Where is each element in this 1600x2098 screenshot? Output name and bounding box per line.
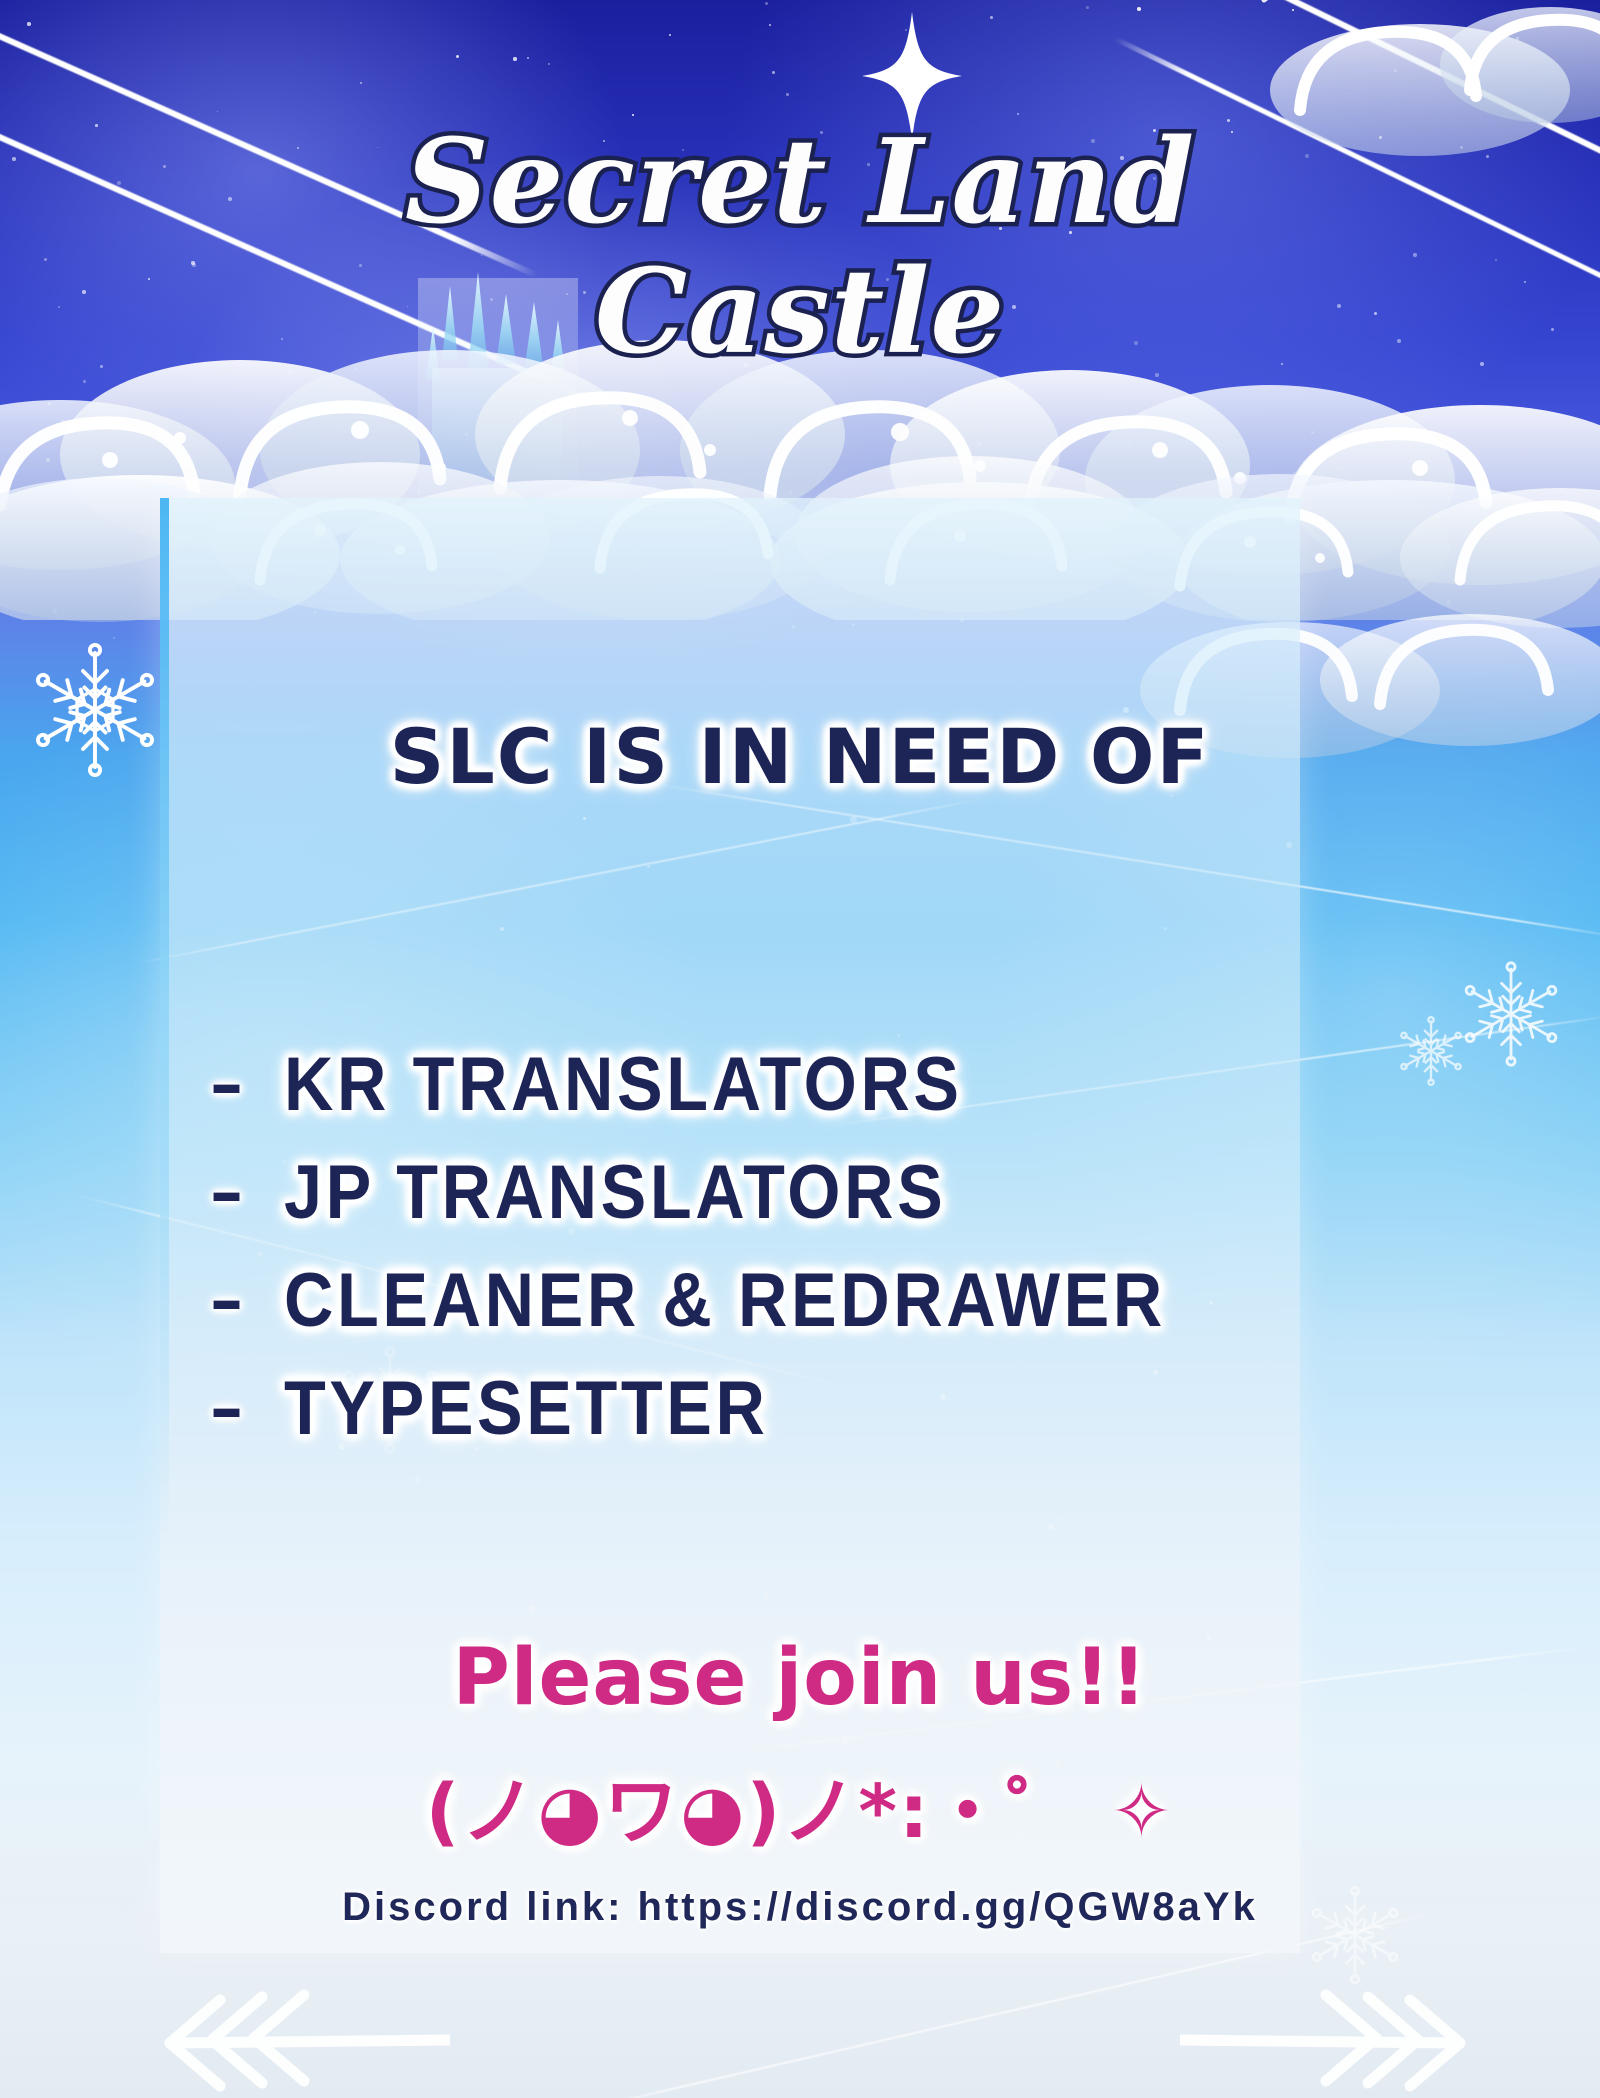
star — [968, 405, 969, 406]
list-item: – TYPESETTER — [210, 1354, 1310, 1462]
roles-list: – KR TRANSLATORS – JP TRANSLATORS – CLEA… — [210, 1030, 1310, 1462]
bullet-dash: – — [210, 1370, 284, 1447]
star — [132, 509, 136, 513]
star — [1056, 466, 1060, 470]
snowflake-icon — [1452, 955, 1570, 1073]
star — [1447, 600, 1451, 604]
star — [217, 111, 218, 112]
star — [789, 491, 792, 494]
star — [61, 420, 65, 424]
list-item: – KR TRANSLATORS — [210, 1030, 1310, 1138]
join-call-to-action: Please join us!! — [0, 1633, 1600, 1723]
star — [609, 429, 611, 431]
star — [465, 433, 468, 436]
role-label: TYPESETTER — [284, 1365, 768, 1452]
star — [181, 454, 185, 458]
role-label: CLEANER & REDRAWER — [284, 1257, 1166, 1344]
star — [48, 402, 51, 405]
star — [941, 410, 943, 412]
star — [685, 431, 687, 433]
title-line-1: Secret Land — [405, 114, 1195, 250]
arrow-icon — [1180, 1988, 1480, 2098]
star — [772, 71, 775, 74]
star — [46, 458, 50, 462]
star — [1302, 563, 1305, 566]
star — [164, 462, 166, 464]
star — [1504, 101, 1506, 103]
star — [114, 534, 117, 537]
star — [83, 380, 86, 383]
star — [786, 93, 789, 96]
snowflake-icon — [1392, 1012, 1470, 1090]
arrow-icon — [150, 1988, 450, 2098]
star — [456, 55, 459, 58]
star — [1026, 463, 1030, 467]
star — [990, 16, 993, 19]
star — [765, 2, 768, 5]
recruitment-poster: Secret Land Castle SLC IS IN NEED OF – K… — [0, 0, 1600, 2098]
subheading: SLC IS IN NEED OF — [0, 712, 1600, 801]
star — [417, 490, 420, 493]
bullet-dash: – — [210, 1154, 284, 1231]
bullet-dash: – — [210, 1046, 284, 1123]
list-item: – CLEANER & REDRAWER — [210, 1246, 1310, 1354]
list-item: – JP TRANSLATORS — [210, 1138, 1310, 1246]
discord-link[interactable]: Discord link: https://discord.gg/QGW8aYk — [0, 1885, 1600, 1930]
star — [490, 465, 492, 467]
star — [566, 387, 567, 388]
star — [769, 24, 771, 26]
star — [305, 399, 309, 403]
star — [939, 466, 941, 468]
star — [53, 609, 57, 613]
role-label: KR TRANSLATORS — [284, 1041, 963, 1128]
star — [1394, 69, 1397, 72]
star — [994, 426, 996, 428]
star — [1086, 6, 1089, 9]
star — [1335, 467, 1338, 470]
star — [27, 22, 31, 26]
star — [1516, 37, 1519, 40]
star — [768, 456, 770, 458]
kaomoji-emoticon: (ノ◕ワ◕)ノ*:・゜ ✧ — [0, 1752, 1600, 1859]
star — [905, 29, 907, 31]
star — [1293, 472, 1297, 476]
star — [308, 404, 311, 407]
star — [527, 57, 529, 59]
star — [1127, 441, 1131, 445]
page-title: Secret Land Castle — [0, 118, 1600, 378]
star — [513, 57, 517, 61]
star — [669, 34, 671, 36]
bullet-dash: – — [210, 1262, 284, 1339]
star — [113, 637, 115, 639]
star — [1022, 389, 1024, 391]
title-line-2: Castle — [0, 248, 1600, 378]
role-label: JP TRANSLATORS — [284, 1149, 946, 1236]
star — [977, 442, 981, 446]
star — [109, 462, 113, 466]
star — [1137, 7, 1141, 11]
star — [1380, 549, 1384, 553]
star — [111, 87, 112, 88]
star — [360, 82, 362, 84]
star — [548, 63, 550, 65]
star — [1311, 431, 1314, 434]
star — [1292, 9, 1294, 11]
